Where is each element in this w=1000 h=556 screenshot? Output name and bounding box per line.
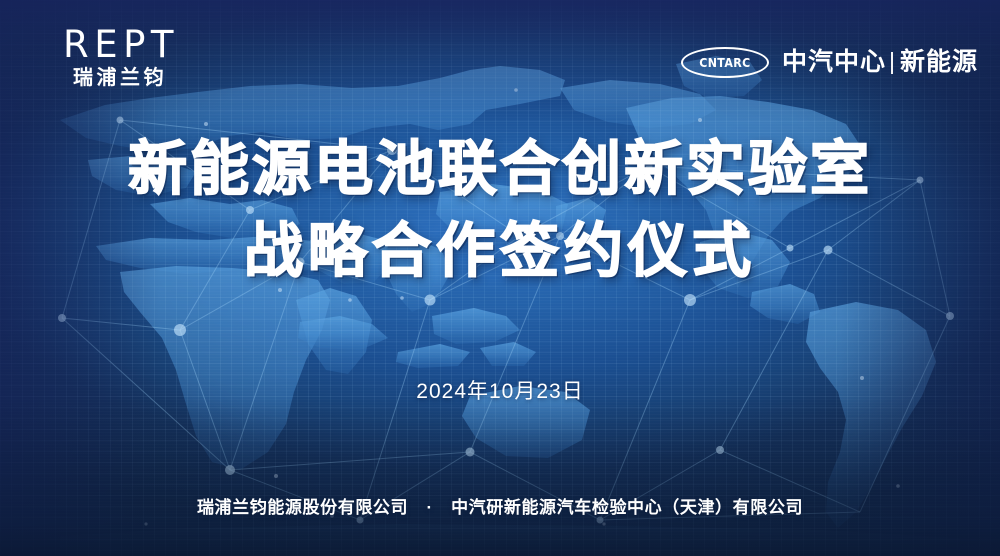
footer-companies: 瑞浦兰钧能源股份有限公司 · 中汽研新能源汽车检验中心（天津）有限公司	[0, 493, 1000, 518]
cntarc-badge-icon: CNTARC	[681, 47, 769, 78]
company-separator: ·	[426, 498, 432, 518]
company-name-right: 中汽研新能源汽车检验中心（天津）有限公司	[451, 498, 803, 517]
cntarc-badge-text: CNTARC	[699, 56, 750, 70]
rept-logo: REPT 瑞浦兰钧	[58, 26, 179, 89]
signing-ceremony-slide: REPT 瑞浦兰钧 CNTARC 中汽中心 新能源 新能源电池联合创新实验室 战…	[0, 0, 1000, 556]
cntarc-sub-name: 新能源	[900, 49, 978, 76]
company-name-left: 瑞浦兰钧能源股份有限公司	[197, 498, 408, 517]
title-line-1: 新能源电池联合创新实验室	[0, 128, 1000, 210]
logo-divider	[891, 52, 893, 74]
title-line-2: 战略合作签约仪式	[0, 210, 1000, 292]
cntarc-chinese-name: 中汽中心	[782, 49, 886, 76]
cntarc-logo: CNTARC 中汽中心 新能源	[681, 47, 978, 78]
slide-header: REPT 瑞浦兰钧 CNTARC 中汽中心 新能源	[0, 0, 1000, 104]
cntarc-name-group: 中汽中心 新能源	[782, 49, 978, 76]
rept-chinese-name: 瑞浦兰钧	[58, 67, 179, 89]
rept-wordmark: REPT	[58, 26, 179, 64]
slide-title: 新能源电池联合创新实验室 战略合作签约仪式	[0, 128, 1000, 292]
event-date: 2024年10月23日	[0, 375, 1000, 405]
